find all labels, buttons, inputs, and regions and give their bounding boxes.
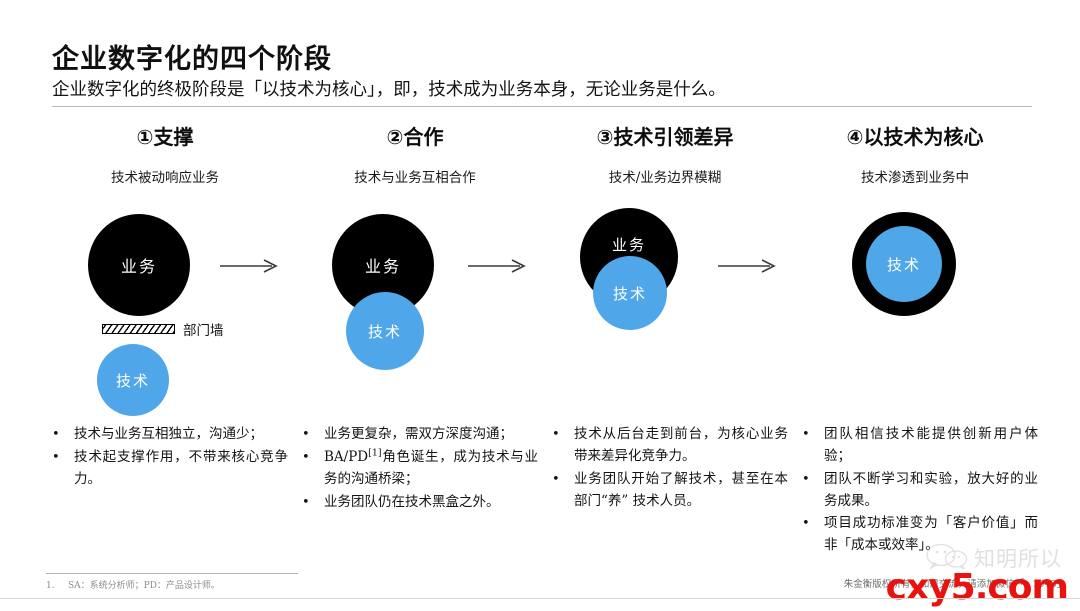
bullet-marker: •	[300, 424, 324, 445]
bullet-text: 团队相信技术能提供创新用户体验；	[824, 424, 1038, 468]
list-item: • 技术与业务互相独立，沟通少；	[50, 424, 288, 446]
business-circle-label: 业务	[612, 234, 646, 255]
stage-3-heading: ③技术引领差异	[540, 126, 790, 152]
list-item: • 业务团队仍在技术黑盒之外。	[300, 492, 538, 514]
stage-1-subheading: 技术被动响应业务	[40, 166, 290, 186]
footnote-ref: [1]	[368, 447, 381, 458]
stage-3-subheading: 技术/业务边界模糊	[540, 166, 790, 186]
department-wall-label: 部门墙	[183, 319, 224, 339]
technology-circle-label: 技术	[368, 321, 402, 342]
stage-column-1: ①支撑 技术被动响应业务 业务 部门墙 技术	[40, 126, 290, 556]
business-ring: 技术	[852, 212, 956, 316]
list-item: • 技术起支撑作用，不带来核心竞争力。	[50, 447, 288, 491]
technology-circle: 技术	[346, 292, 424, 370]
list-item: • 技术从后台走到前台，为核心业务带来差异化竞争力。	[550, 424, 788, 468]
page-subtitle: 企业数字化的终极阶段是「以技术为核心」，即，技术成为业务本身，无论业务是什么。	[52, 79, 1032, 102]
list-item: • 团队相信技术能提供创新用户体验；	[800, 424, 1038, 468]
bullet-marker: •	[550, 469, 574, 490]
bullet-text: 项目成功标准变为「客户价值」而非「成本或效率」。	[824, 513, 1038, 557]
stage-2-heading: ②合作	[290, 126, 540, 152]
stage-3-diagram: 业务 技术	[540, 196, 790, 414]
list-item: • 业务团队开始了解技术，甚至在本部门“养” 技术人员。	[550, 469, 788, 513]
stage-arrow-3-to-4	[718, 258, 780, 272]
department-wall-bar	[102, 324, 175, 334]
stage-1-bullets: • 技术与业务互相独立，沟通少； • 技术起支撑作用，不带来核心竞争力。	[50, 424, 288, 492]
technology-circle: 技术	[866, 226, 942, 302]
stage-column-4: ④以技术为核心 技术渗透到业务中 技术 • 团队相信技术能提供创新用户体验； •…	[790, 126, 1040, 556]
bullet-marker: •	[550, 424, 574, 445]
stage-4-heading: ④以技术为核心	[790, 126, 1040, 152]
business-circle: 业务	[88, 214, 190, 316]
bullet-text: 业务团队开始了解技术，甚至在本部门“养” 技术人员。	[574, 469, 788, 513]
stage-2-bullets: • 业务更复杂，需双方深度沟通； • BA/PD[1]角色诞生，成为技术与业务的…	[300, 424, 538, 514]
header-divider	[52, 106, 1032, 107]
technology-circle: 技术	[593, 256, 667, 330]
stage-3-bullets: • 技术从后台走到前台，为核心业务带来差异化竞争力。 • 业务团队开始了解技术，…	[550, 424, 788, 513]
technology-circle-label: 技术	[887, 254, 921, 275]
bullet-marker: •	[800, 424, 824, 445]
bullet-marker: •	[800, 469, 824, 490]
bullet-text-footnoted: BA/PD[1]角色诞生，成为技术与业务的沟通桥梁；	[324, 447, 538, 491]
bullet-marker: •	[50, 447, 74, 468]
stage-1-heading: ①支撑	[40, 126, 290, 152]
bullet-marker: •	[300, 492, 324, 513]
slide-header: 企业数字化的四个阶段 企业数字化的终极阶段是「以技术为核心」，即，技术成为业务本…	[52, 44, 1032, 107]
footnote-text: SA：系统分析师；PD：产品设计师。	[68, 581, 220, 591]
technology-circle-label: 技术	[116, 370, 150, 391]
bullet-marker: •	[300, 447, 324, 468]
stage-2-subheading: 技术与业务互相合作	[290, 166, 540, 186]
site-watermark: cxy5.com	[886, 570, 1068, 606]
stage-4-diagram: 技术	[790, 196, 1040, 414]
stage-column-3: ③技术引领差异 技术/业务边界模糊 业务 技术 •	[540, 126, 790, 556]
stage-1-diagram: 业务 部门墙 技术	[40, 196, 290, 414]
stages-container: ①支撑 技术被动响应业务 业务 部门墙 技术	[40, 126, 1040, 556]
bullet-text: 技术与业务互相独立，沟通少；	[74, 424, 288, 446]
list-item: • 项目成功标准变为「客户价值」而非「成本或效率」。	[800, 513, 1038, 557]
footnote-divider	[46, 573, 298, 574]
bullet-text: 业务更复杂，需双方深度沟通；	[324, 424, 538, 446]
business-circle-label: 业务	[121, 253, 157, 277]
stage-2-diagram: 业务 技术	[290, 196, 540, 414]
technology-circle-label: 技术	[613, 283, 647, 304]
slide-canvas: 企业数字化的四个阶段 企业数字化的终极阶段是「以技术为核心」，即，技术成为业务本…	[0, 0, 1080, 611]
technology-circle: 技术	[97, 344, 169, 416]
list-item: • 业务更复杂，需双方深度沟通；	[300, 424, 538, 446]
list-item: • BA/PD[1]角色诞生，成为技术与业务的沟通桥梁；	[300, 447, 538, 491]
footnote: 1.SA：系统分析师；PD：产品设计师。	[46, 578, 220, 591]
bullet-text: 业务团队仍在技术黑盒之外。	[324, 492, 538, 514]
bullet-marker: •	[800, 513, 824, 534]
stage-arrow-1-to-2	[220, 258, 282, 272]
stage-arrow-2-to-3	[468, 258, 530, 272]
stage-4-subheading: 技术渗透到业务中	[790, 166, 1040, 186]
bottom-divider	[0, 598, 1080, 599]
business-circle-label: 业务	[365, 253, 401, 277]
stage-4-bullets: • 团队相信技术能提供创新用户体验； • 团队不断学习和实验，放大好的业务成果。…	[800, 424, 1038, 558]
bullet-text: 团队不断学习和实验，放大好的业务成果。	[824, 469, 1038, 513]
bullet-text: 技术从后台走到前台，为核心业务带来差异化竞争力。	[574, 424, 788, 468]
bullet-marker: •	[50, 424, 74, 445]
list-item: • 团队不断学习和实验，放大好的业务成果。	[800, 469, 1038, 513]
page-title: 企业数字化的四个阶段	[52, 44, 1032, 75]
bullet-text: 技术起支撑作用，不带来核心竞争力。	[74, 447, 288, 491]
stage-column-2: ②合作 技术与业务互相合作 业务 技术 •	[290, 126, 540, 556]
footnote-number: 1.	[46, 581, 68, 591]
